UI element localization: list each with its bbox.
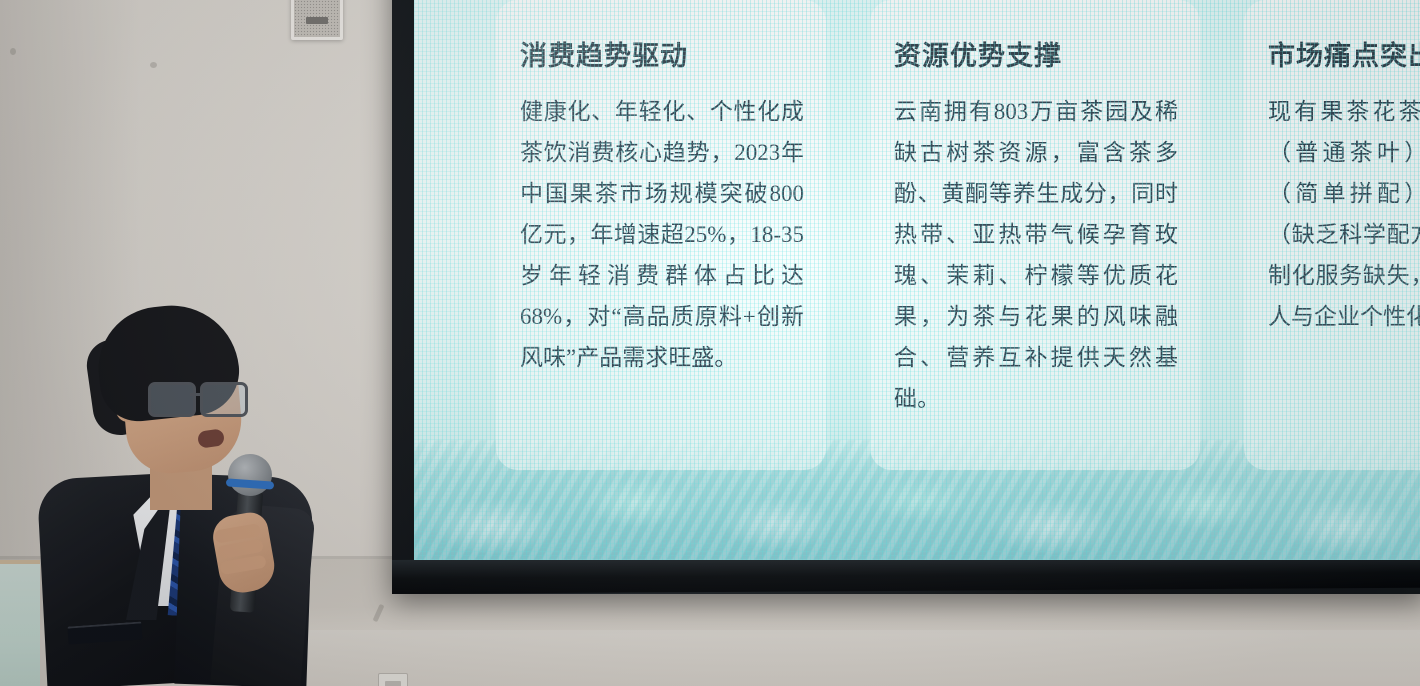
speaker-label [306,17,328,24]
wall-mark [150,62,157,68]
wall-mark [10,48,16,55]
card-body: 现有果茶花茶存在同质化（普通茶叶）、风味割裂（简单拼配）、功效模糊（缺乏科学配方… [1268,91,1420,337]
slide-card: 消费趋势驱动 健康化、年轻化、个性化成茶饮消费核心趋势，2023年中国果茶市场规… [496,0,826,470]
card-body: 云南拥有803万亩茶园及稀缺古树茶资源，富含茶多酚、黄酮等养生成分，同时热带、亚… [894,91,1178,419]
eyeglasses-icon [148,382,248,412]
wall-outlet [378,673,408,686]
screenshot-root: 消费趋势驱动 健康化、年轻化、个性化成茶饮消费核心趋势，2023年中国果茶市场规… [0,0,1420,686]
lens-right [200,382,248,417]
display-screen: 消费趋势驱动 健康化、年轻化、个性化成茶饮消费核心趋势，2023年中国果茶市场规… [414,0,1420,560]
slide-card-row: 消费趋势驱动 健康化、年轻化、个性化成茶饮消费核心趋势，2023年中国果茶市场规… [414,0,1420,470]
presenter [20,300,320,686]
presentation-slide: 消费趋势驱动 健康化、年轻化、个性化成茶饮消费核心趋势，2023年中国果茶市场规… [414,0,1420,560]
card-heading: 市场痛点突出 [1268,34,1420,73]
slide-card: 市场痛点突出 现有果茶花茶存在同质化（普通茶叶）、风味割裂（简单拼配）、功效模糊… [1244,0,1420,470]
lens-left [148,382,196,417]
card-heading: 消费趋势驱动 [520,34,804,73]
led-display: 消费趋势驱动 健康化、年轻化、个性化成茶饮消费核心趋势，2023年中国果茶市场规… [392,0,1420,594]
microphone-head-icon [228,454,272,496]
wall-speaker-icon [291,0,343,40]
slide-card: 资源优势支撑 云南拥有803万亩茶园及稀缺古树茶资源，富含茶多酚、黄酮等养生成分… [870,0,1200,470]
card-heading: 资源优势支撑 [894,34,1178,73]
card-body: 健康化、年轻化、个性化成茶饮消费核心趋势，2023年中国果茶市场规模突破800亿… [520,91,804,378]
